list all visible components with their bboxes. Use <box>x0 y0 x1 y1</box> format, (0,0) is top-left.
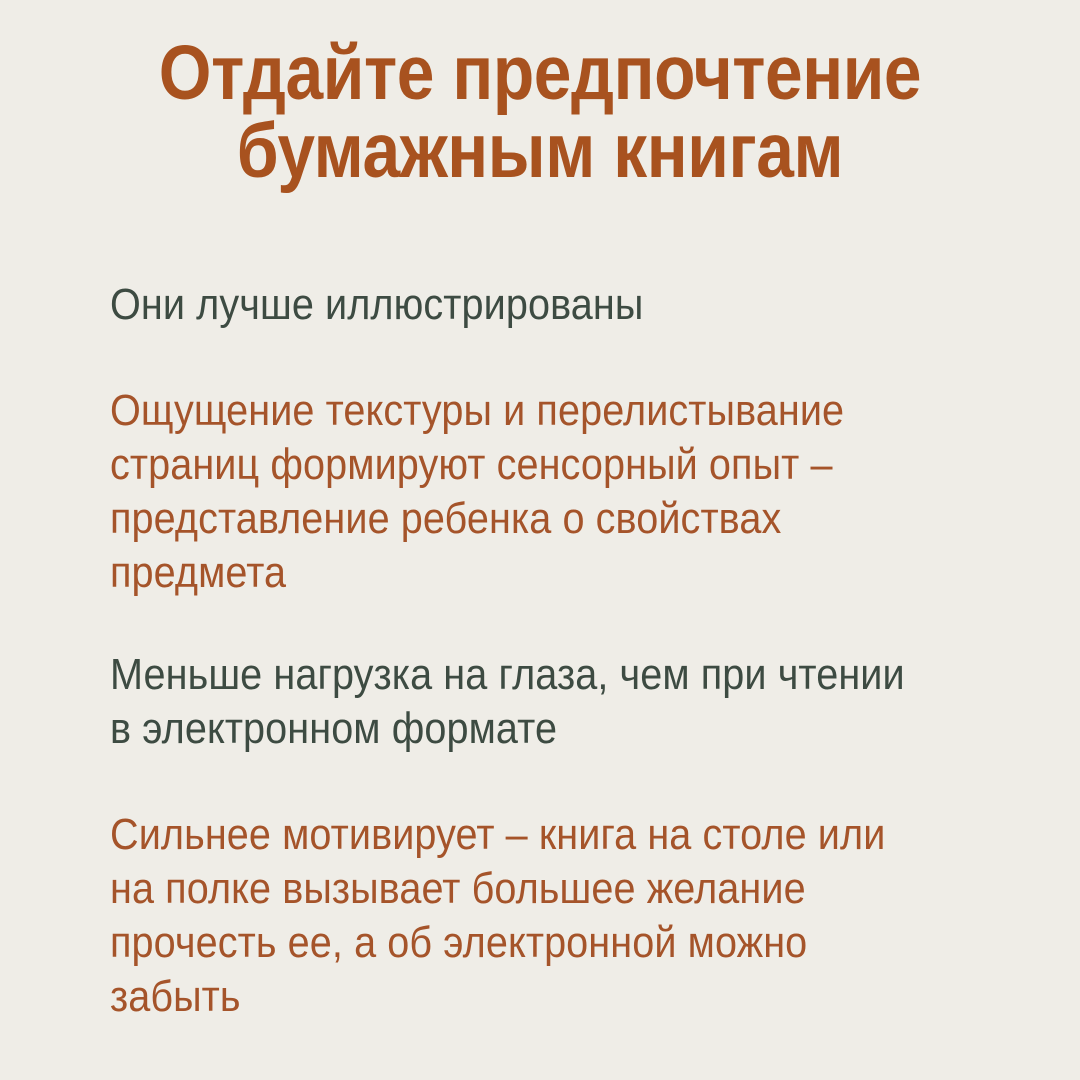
body-content: Они лучше иллюстрированы Ощущение тексту… <box>110 278 1010 1024</box>
body-paragraph-eye-strain: Меньше нагрузка на глаза, чем при чтении… <box>110 648 920 756</box>
page-title-line-2: бумажным книгам <box>65 112 1015 190</box>
body-paragraph-sensory-experience: Ощущение текстуры и перелистывание стран… <box>110 384 920 600</box>
body-paragraph-motivation: Сильнее мотивирует – книга на столе или … <box>110 808 920 1024</box>
page-title: Отдайте предпочтение бумажным книгам <box>0 34 1080 190</box>
body-paragraph-illustrations: Они лучше иллюстрированы <box>110 278 920 332</box>
slide-canvas: Отдайте предпочтение бумажным книгам Они… <box>0 0 1080 1080</box>
page-title-line-1: Отдайте предпочтение <box>65 34 1015 112</box>
